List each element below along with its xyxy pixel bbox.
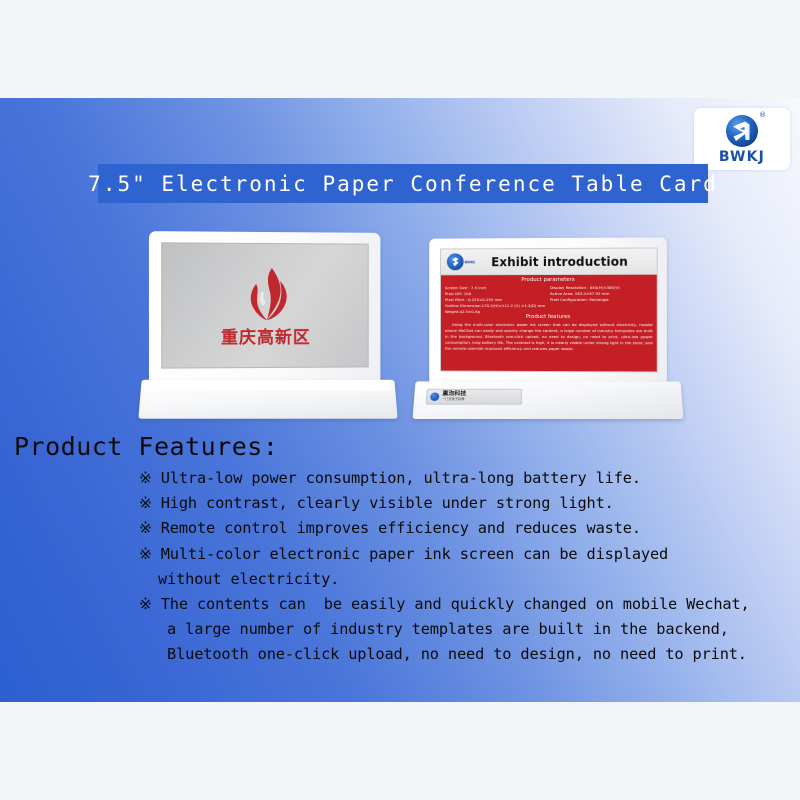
device-left-body: 重庆高新区: [149, 231, 380, 385]
conference-table-card-right: BWKJ Exhibit introduction Product parame…: [414, 238, 682, 428]
param-item: Outline Dimension:170.2(H)×111.2 (V) ×1.…: [445, 303, 546, 309]
bwkj-circle-emblem-icon: [430, 393, 440, 401]
brand-name: BWKJ: [719, 149, 765, 165]
feature-item-continuation: without electricity.: [139, 567, 791, 592]
chongqing-flame-logo-icon: [242, 266, 290, 328]
parameters-grid: Screen Size : 7.5 inch Pixel DPI: 100 Pi…: [445, 285, 653, 315]
brand-logo: ® BWKJ: [694, 108, 790, 170]
screen-header-brand: BWKJ: [465, 260, 475, 264]
background-bottom-band: [0, 702, 800, 800]
bwkj-circle-emblem-icon: [447, 253, 464, 270]
page-title: 7.5" Electronic Paper Conference Table C…: [88, 172, 718, 196]
base-plate-subtitle: 一门式电子标牌: [442, 398, 466, 401]
feature-item: ※ High contrast, clearly visible under s…: [139, 491, 791, 516]
feature-item-continuation: Bluetooth one-click upload, no need to d…: [139, 642, 791, 667]
device-right-stand: 禀沕科技 一门式电子标牌: [413, 381, 684, 419]
feature-item: ※ Ultra-low power consumption, ultra-lon…: [139, 466, 791, 491]
features-heading: Product Features:: [14, 432, 278, 461]
exhibit-screen-body: Product parameters Screen Size : 7.5 inc…: [441, 275, 657, 373]
device-left-stand: [138, 380, 397, 419]
feature-item: ※ Multi-color electronic paper ink scree…: [139, 542, 791, 567]
device-right-body: BWKJ Exhibit introduction Product parame…: [429, 237, 667, 386]
device-right-base-plate: 禀沕科技 一门式电子标牌: [426, 389, 523, 405]
parameters-left-column: Screen Size : 7.5 inch Pixel DPI: 100 Pi…: [445, 285, 546, 315]
feature-item-continuation: a large number of industry templates are…: [139, 617, 791, 642]
device-left-stand-top: [145, 380, 392, 391]
background-top-band: [0, 0, 800, 98]
device-left-caption: 重庆高新区: [221, 329, 311, 346]
screen-features-title: Product features: [445, 314, 653, 321]
device-right-screen: BWKJ Exhibit introduction Product parame…: [440, 247, 658, 372]
product-poster: ® BWKJ 7.5" Electronic Paper Conference …: [0, 0, 800, 800]
feature-item: ※ The contents can be easily and quickly…: [139, 592, 791, 617]
device-left-screen: 重庆高新区: [161, 242, 369, 368]
screen-features-text: Using the multi-color electronic paper i…: [445, 322, 653, 352]
registered-mark: ®: [759, 111, 766, 119]
feature-item: ※ Remote control improves efficiency and…: [139, 516, 791, 541]
base-plate-texts: 禀沕科技 一门式电子标牌: [442, 392, 466, 401]
param-item: Pixel Configuration: Rectangle: [550, 297, 653, 303]
features-list: ※ Ultra-low power consumption, ultra-lon…: [139, 466, 791, 668]
title-banner: 7.5" Electronic Paper Conference Table C…: [98, 164, 708, 203]
parameters-title: Product parameters: [445, 277, 653, 285]
parameters-right-column: Display Resolution : 640(H)×384(V) Activ…: [550, 285, 653, 315]
conference-table-card-left: 重庆高新区: [140, 232, 396, 424]
exhibit-screen-title: Exhibit introduction: [475, 254, 657, 269]
exhibit-screen-header: BWKJ Exhibit introduction: [441, 248, 657, 275]
bwkj-circle-emblem-icon: ®: [725, 114, 759, 148]
